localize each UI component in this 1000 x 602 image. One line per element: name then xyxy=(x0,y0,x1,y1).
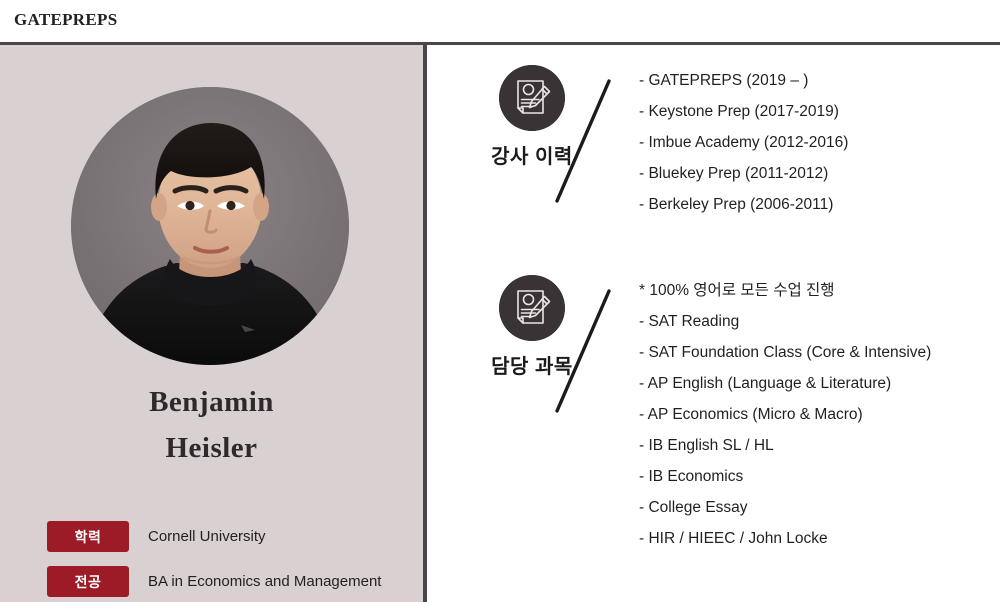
person-name-last: Heisler xyxy=(0,425,423,471)
list-item: - IB Economics xyxy=(639,461,999,492)
slash-separator-icon xyxy=(547,73,617,208)
list-item: - IB English SL / HL xyxy=(639,430,999,461)
list-item: * 100% 영어로 모든 수업 진행 xyxy=(639,275,999,306)
list-item: - Imbue Academy (2012-2016) xyxy=(639,127,999,158)
list-item: - AP Economics (Micro & Macro) xyxy=(639,399,999,430)
status-badge-major: 전공 xyxy=(47,566,129,597)
detail-value-major: BA in Economics and Management xyxy=(148,573,381,590)
list-item: - Berkeley Prep (2006-2011) xyxy=(639,189,999,220)
list-item: - AP English (Language & Literature) xyxy=(639,368,999,399)
list-item: - GATEPREPS (2019 – ) xyxy=(639,65,999,96)
list-item: - Bluekey Prep (2011-2012) xyxy=(639,158,999,189)
profile-right-panel: 강사 이력 - GATEPREPS (2019 – ) - Keystone P… xyxy=(427,45,1000,602)
list-item: - SAT Reading xyxy=(639,306,999,337)
avatar xyxy=(71,87,349,365)
detail-value-education: Cornell University xyxy=(148,528,266,545)
subjects-list: * 100% 영어로 모든 수업 진행 - SAT Reading - SAT … xyxy=(639,275,999,554)
status-badge-education: 학력 xyxy=(47,521,129,552)
detail-row-major: 전공 BA in Economics and Management xyxy=(47,566,381,597)
person-name-first: Benjamin xyxy=(0,379,423,425)
person-name: Benjamin Heisler xyxy=(0,379,423,471)
slash-separator-icon xyxy=(547,283,617,418)
teaching-history-list: - GATEPREPS (2019 – ) - Keystone Prep (2… xyxy=(639,65,999,220)
profile-card-page: GATEPREPS xyxy=(0,0,1000,602)
detail-row-education: 학력 Cornell University xyxy=(47,521,266,552)
profile-left-panel: Benjamin Heisler 학력 Cornell University 전… xyxy=(0,45,423,602)
page-title: GATEPREPS xyxy=(14,10,117,30)
page-header: GATEPREPS xyxy=(0,0,1000,42)
portrait-photo-icon xyxy=(71,87,349,365)
list-item: - SAT Foundation Class (Core & Intensive… xyxy=(639,337,999,368)
list-item: - College Essay xyxy=(639,492,999,523)
list-item: - HIR / HIEEC / John Locke xyxy=(639,523,999,554)
list-item: - Keystone Prep (2017-2019) xyxy=(639,96,999,127)
